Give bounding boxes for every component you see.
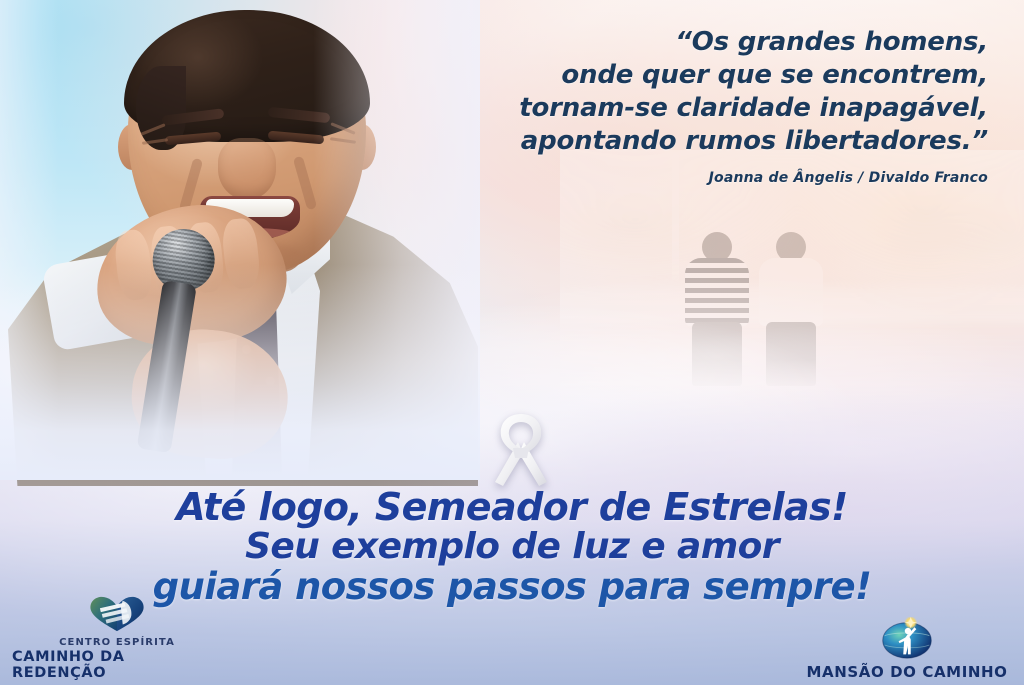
logo-centro-espirita-caminho-da-redencao[interactable]: CENTRO ESPÍRITA CAMINHO DA REDENÇÃO xyxy=(12,595,222,681)
quote-line-3: tornam-se claridade inapagável, xyxy=(428,92,988,125)
headline-line-1: Até logo, Semeador de Estrelas! xyxy=(0,487,1024,527)
globe-figure-star-icon xyxy=(879,617,935,664)
quote-author: Joanna de Ângelis / Divaldo Franco xyxy=(428,170,988,186)
portrait-finger xyxy=(220,217,261,290)
headline-line-2: Seu exemplo de luz e amor xyxy=(0,527,1024,567)
microphone-body xyxy=(137,280,197,453)
quote-line-2: onde quer que se encontrem, xyxy=(428,59,988,92)
memorial-poster: “Os grandes homens, onde quer que se enc… xyxy=(0,0,1024,685)
logo-left-line-2: CAMINHO DA REDENÇÃO xyxy=(12,649,222,681)
logo-mansao-do-caminho[interactable]: MANSÃO DO CAMINHO xyxy=(802,617,1012,681)
headline-block: Até logo, Semeador de Estrelas! Seu exem… xyxy=(0,487,1024,607)
quote-line-4: apontando rumos libertadores.” xyxy=(428,125,988,158)
quote-block: “Os grandes homens, onde quer que se enc… xyxy=(428,26,988,186)
white-ribbon-icon xyxy=(487,412,555,488)
quote-line-1: “Os grandes homens, xyxy=(428,26,988,59)
logo-right-line-1: MANSÃO DO CAMINHO xyxy=(806,664,1007,681)
heart-hands-icon xyxy=(86,595,148,637)
logo-left-line-1: CENTRO ESPÍRITA xyxy=(59,637,175,649)
